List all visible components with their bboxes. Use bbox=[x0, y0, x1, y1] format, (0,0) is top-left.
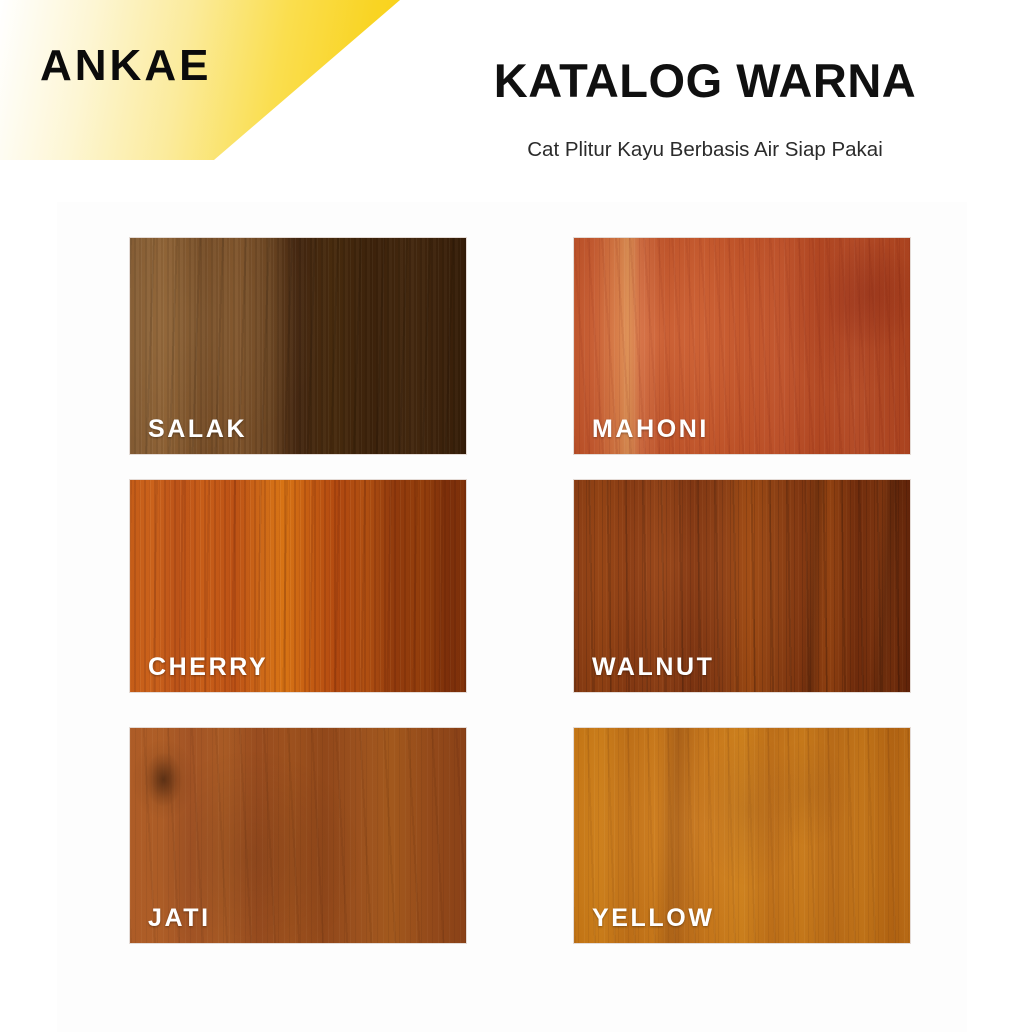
color-swatch-panel: SALAK MAHONI CHERRY WALNUT JATI YELLOW bbox=[57, 202, 967, 1032]
page-subtitle: Cat Plitur Kayu Berbasis Air Siap Pakai bbox=[420, 139, 990, 162]
swatch-label: CHERRY bbox=[148, 655, 268, 680]
swatch-card-mahoni[interactable]: MAHONI bbox=[574, 238, 910, 454]
swatch-card-walnut[interactable]: WALNUT bbox=[574, 480, 910, 692]
swatch-label: WALNUT bbox=[592, 655, 715, 680]
swatch-label: YELLOW bbox=[592, 906, 715, 931]
swatch-card-jati[interactable]: JATI bbox=[130, 728, 466, 943]
swatch-label: MAHONI bbox=[592, 417, 709, 442]
brand-logo-ankae: ANKAE bbox=[40, 44, 211, 88]
swatch-card-salak[interactable]: SALAK bbox=[130, 238, 466, 454]
swatch-label: JATI bbox=[148, 906, 211, 931]
swatch-card-cherry[interactable]: CHERRY bbox=[130, 480, 466, 692]
swatch-card-yellow[interactable]: YELLOW bbox=[574, 728, 910, 943]
swatch-label: SALAK bbox=[148, 417, 247, 442]
page-header: ANKAE KATALOG WARNA Cat Plitur Kayu Berb… bbox=[0, 0, 1024, 200]
page-title: KATALOG WARNA bbox=[420, 56, 990, 105]
